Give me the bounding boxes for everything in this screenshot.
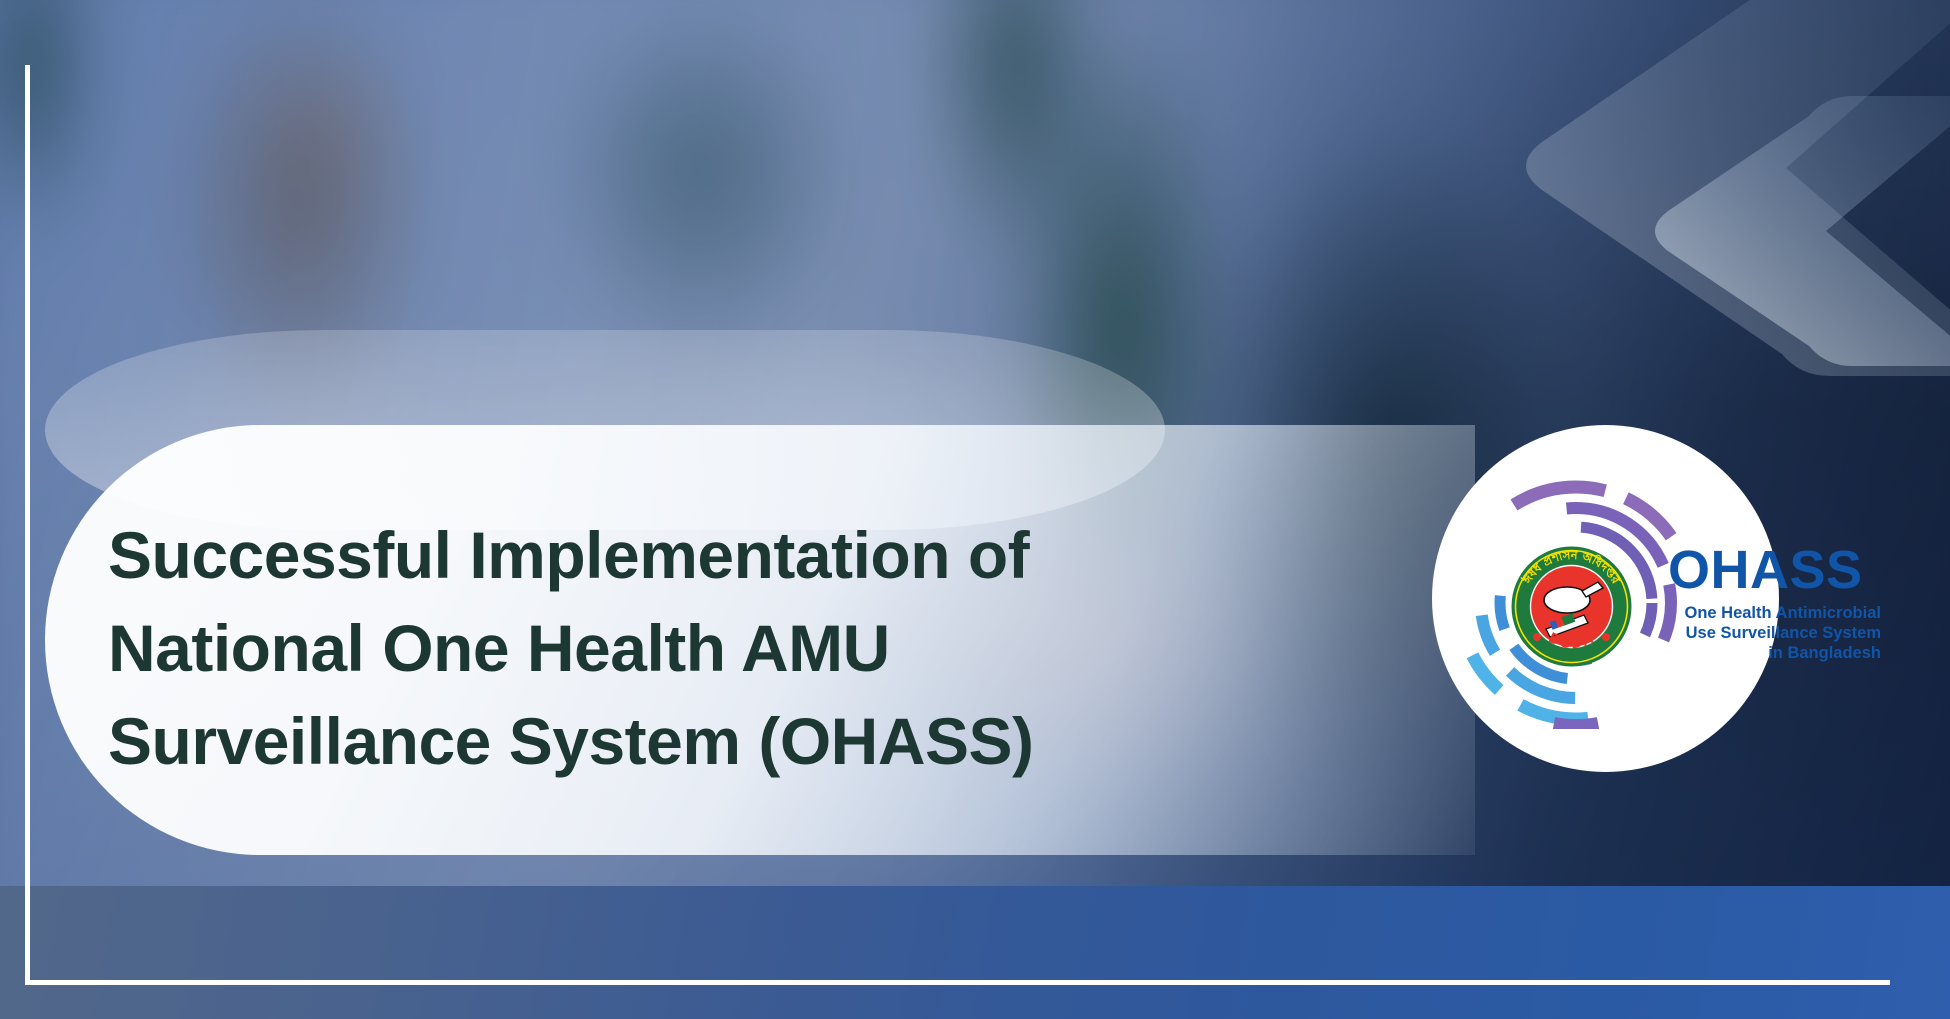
frame-line-left [25, 65, 30, 985]
logo-text-block: OHASS One Health Antimicrobial Use Surve… [1668, 543, 1928, 663]
page-title-line-3: Surveillance System (OHASS) [108, 695, 1218, 788]
bottom-color-strip [0, 886, 1950, 1019]
frame-line-bottom [25, 980, 1890, 985]
logo-tagline-line-1: One Health Antimicrobial [1668, 603, 1881, 623]
dgda-seal-icon: ঈষধ প্রশাসন অধিদপ্তর DGDA [1510, 545, 1633, 668]
logo-tagline-line-3: in Bangladesh [1668, 643, 1881, 663]
page-title-line-2: National One Health AMU [108, 602, 1218, 695]
ohass-logo: ঈষধ প্রশাসন অধিদপ্তর DGDA OHASS One Heal… [1432, 425, 1932, 772]
ohass-title-banner: Successful Implementation of National On… [0, 0, 1950, 1019]
logo-tagline-line-2: Use Surveillance System [1668, 623, 1881, 643]
page-title: Successful Implementation of National On… [108, 509, 1218, 788]
logo-wordmark: OHASS [1668, 543, 1928, 597]
page-title-line-1: Successful Implementation of [108, 509, 1218, 602]
logo-tagline: One Health Antimicrobial Use Surveillanc… [1668, 603, 1881, 663]
